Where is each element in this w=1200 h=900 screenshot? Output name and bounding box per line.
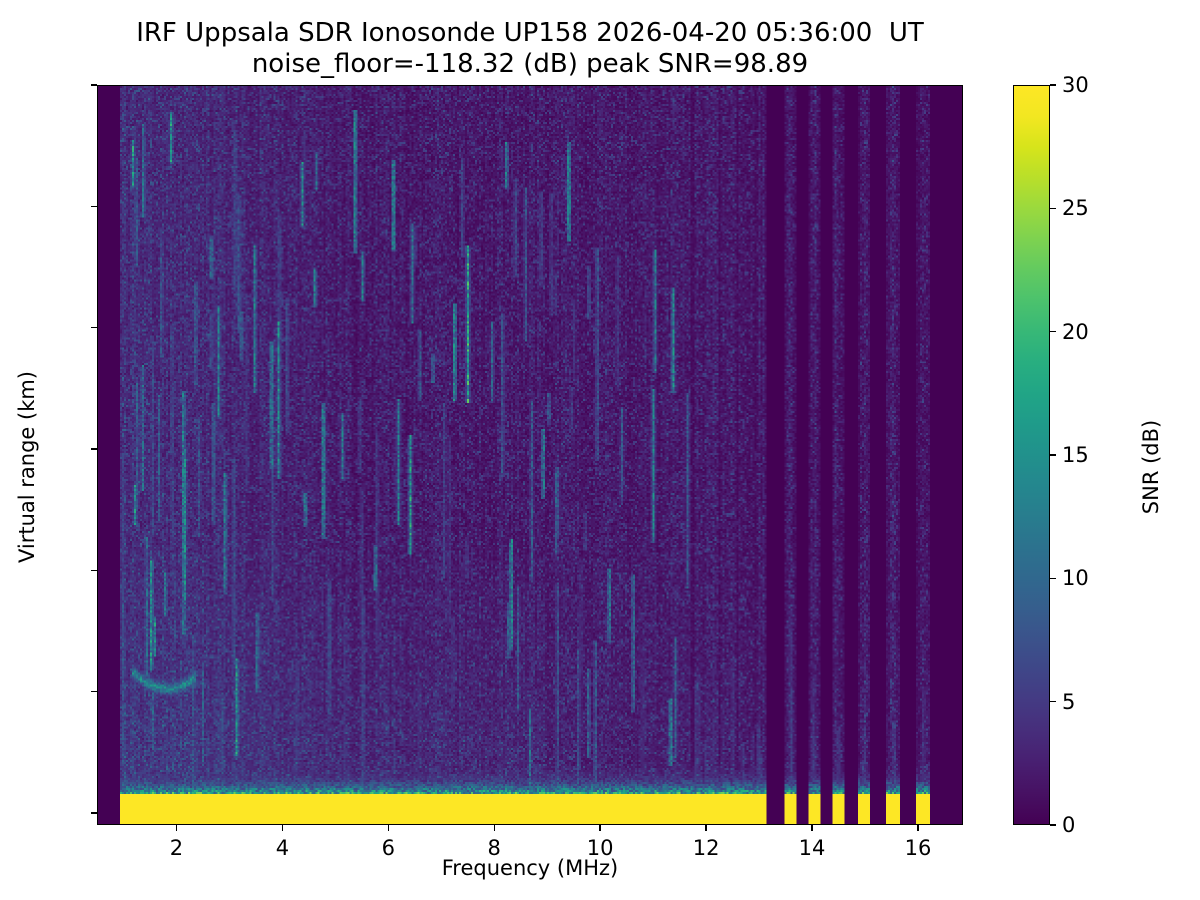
x-tick-label: 14: [752, 836, 872, 860]
x-tick-mark: [917, 825, 918, 831]
x-tick-label: 2: [116, 836, 236, 860]
colorbar-tick-label: 0: [1062, 813, 1182, 837]
colorbar[interactable]: [1013, 85, 1050, 825]
colorbar-tick-label: 30: [1062, 73, 1182, 97]
colorbar-tick-mark: [1050, 824, 1056, 825]
figure-title: IRF Uppsala SDR Ionosonde UP158 2026-04-…: [0, 18, 1060, 79]
x-tick-mark: [176, 825, 177, 831]
title-line-1: IRF Uppsala SDR Ionosonde UP158 2026-04-…: [0, 18, 1060, 49]
colorbar-tick-label: 10: [1062, 566, 1182, 590]
x-tick-label: 16: [858, 836, 978, 860]
y-tick-mark: [91, 570, 97, 571]
x-tick-label: 6: [328, 836, 448, 860]
colorbar-tick-mark: [1050, 701, 1056, 702]
ionogram-plot-area[interactable]: [97, 85, 963, 825]
x-tick-mark: [388, 825, 389, 831]
colorbar-label: SNR (dB): [1139, 337, 1163, 597]
x-tick-mark: [599, 825, 600, 831]
colorbar-tick-label: 25: [1062, 196, 1182, 220]
colorbar-gradient: [1014, 86, 1049, 824]
colorbar-tick-mark: [1050, 331, 1056, 332]
x-tick-mark: [282, 825, 283, 831]
colorbar-tick-mark: [1050, 578, 1056, 579]
y-tick-mark: [91, 206, 97, 207]
colorbar-tick-mark: [1050, 84, 1056, 85]
x-tick-label: 10: [540, 836, 660, 860]
x-tick-label: 12: [646, 836, 766, 860]
colorbar-tick-label: 20: [1062, 320, 1182, 344]
x-tick-mark: [494, 825, 495, 831]
ionogram-figure: IRF Uppsala SDR Ionosonde UP158 2026-04-…: [0, 0, 1200, 900]
x-tick-label: 8: [434, 836, 554, 860]
y-tick-mark: [91, 84, 97, 85]
ionogram-heatmap: [98, 86, 962, 824]
y-tick-mark: [91, 327, 97, 328]
title-line-2: noise_floor=-118.32 (dB) peak SNR=98.89: [0, 49, 1060, 80]
x-tick-mark: [705, 825, 706, 831]
x-tick-mark: [811, 825, 812, 831]
y-tick-mark: [91, 448, 97, 449]
y-axis-label: Virtual range (km): [15, 337, 39, 597]
y-tick-mark: [91, 812, 97, 813]
colorbar-tick-label: 5: [1062, 690, 1182, 714]
colorbar-tick-label: 15: [1062, 443, 1182, 467]
colorbar-tick-mark: [1050, 454, 1056, 455]
x-tick-label: 4: [222, 836, 342, 860]
colorbar-tick-mark: [1050, 208, 1056, 209]
y-tick-mark: [91, 691, 97, 692]
